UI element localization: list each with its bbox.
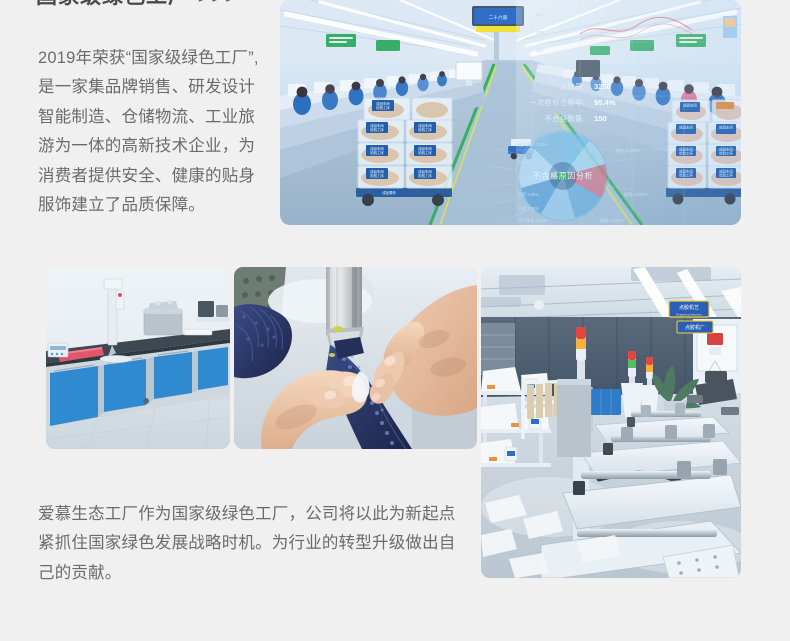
laboratory-illustration xyxy=(46,267,230,449)
svg-text:点胶机艺: 点胶机艺 xyxy=(679,304,699,311)
svg-text:检验工序: 检验工序 xyxy=(376,105,390,110)
svg-text:脱线 14.00%: 脱线 14.00% xyxy=(600,217,624,223)
workshop-illustration: 点胶机艺 Engraving Machine 点胶机厂 xyxy=(481,267,741,578)
svg-text:600: 600 xyxy=(536,12,544,17)
kpi-defect-label: 不合格数量: xyxy=(545,114,585,123)
kpi-defect-value: 150 xyxy=(594,114,607,123)
svg-text:成品车间: 成品车间 xyxy=(370,123,384,128)
closing-paragraph: 爱慕生态工厂作为国家级绿色工厂，公司将以此为新起点紧抓住国家绿色发展战略时机。为… xyxy=(38,500,458,589)
hero-factory-illustration: 二十六道 xyxy=(280,0,741,225)
svg-text:200: 200 xyxy=(536,48,544,53)
svg-text:检验工序: 检验工序 xyxy=(370,127,384,132)
svg-text:尺寸偏差 3.00%: 尺寸偏差 3.00% xyxy=(518,217,547,223)
kpi-total-value: 3250 xyxy=(594,82,611,91)
svg-text:检验工序: 检验工序 xyxy=(370,150,384,155)
workshop-sign-2: 点胶机厂 xyxy=(677,321,713,333)
svg-text:色差 3.00%: 色差 3.00% xyxy=(518,205,539,211)
svg-text:烫工不良 3.00%: 烫工不良 3.00% xyxy=(518,175,547,181)
svg-text:成品周转: 成品周转 xyxy=(382,190,396,195)
svg-text:成品车间: 成品车间 xyxy=(370,146,384,151)
svg-text:成品车间: 成品车间 xyxy=(370,169,384,174)
svg-text:检验工序: 检验工序 xyxy=(418,173,432,178)
svg-text:400: 400 xyxy=(536,30,544,35)
page-title-text: 国家级绿色工厂 xyxy=(36,0,190,8)
kpi-passrate-label: 一次检验合格率: xyxy=(529,98,585,107)
svg-text:检验工序: 检验工序 xyxy=(418,127,432,132)
kpi-total-label: 总数量: xyxy=(560,82,585,91)
page-title: 国家级绿色工厂>>> xyxy=(36,0,239,10)
photo-sewing-closeup xyxy=(234,267,477,449)
svg-text:线头未剪 3.00%: 线头未剪 3.00% xyxy=(518,141,547,147)
workshop-sign-1: 点胶机艺 Engraving Machine xyxy=(669,301,709,317)
photo-workshop: 点胶机艺 Engraving Machine 点胶机厂 xyxy=(481,267,741,578)
svg-text:破洞 14.00%: 破洞 14.00% xyxy=(624,191,648,197)
hero-data-overlay: 600 400 200 总数量: 3250 一次检验合格率: 95.4% 不合格… xyxy=(487,0,741,225)
svg-text:Engraving Machine: Engraving Machine xyxy=(676,313,702,317)
svg-text:二十六道: 二十六道 xyxy=(489,14,508,21)
title-chevrons: >>> xyxy=(198,0,239,8)
photo-laboratory xyxy=(46,267,230,449)
svg-text:成品车间: 成品车间 xyxy=(418,146,432,151)
sewing-illustration xyxy=(234,267,477,449)
svg-text:缝制不良 3.40%: 缝制不良 3.40% xyxy=(518,159,547,165)
svg-text:跳针 14.00%: 跳针 14.00% xyxy=(616,147,640,153)
svg-text:成品车间: 成品车间 xyxy=(418,169,432,174)
svg-text:成品车间: 成品车间 xyxy=(376,101,390,106)
hero-factory-photo: 二十六道 xyxy=(280,0,741,225)
svg-text:成品车间: 成品车间 xyxy=(418,123,432,128)
svg-text:污渍 3.00%: 污渍 3.00% xyxy=(518,191,539,197)
intro-paragraph: 2019年荣获“国家级绿色工厂”,是一家集品牌销售、研发设计智能制造、仓储物流、… xyxy=(38,44,268,221)
bin-stack-left: 成品车间 检验工序 成品车间 检验工序 成品车间 检验工序 成品车间 检验工序 … xyxy=(356,98,452,206)
svg-text:检验工序: 检验工序 xyxy=(370,173,384,178)
kpi-passrate-value: 95.4% xyxy=(594,98,616,107)
page-root: 国家级绿色工厂>>> 2019年荣获“国家级绿色工厂”,是一家集品牌销售、研发设… xyxy=(0,0,790,641)
svg-text:点胶机厂: 点胶机厂 xyxy=(685,324,705,331)
svg-text:检验工序: 检验工序 xyxy=(418,150,432,155)
